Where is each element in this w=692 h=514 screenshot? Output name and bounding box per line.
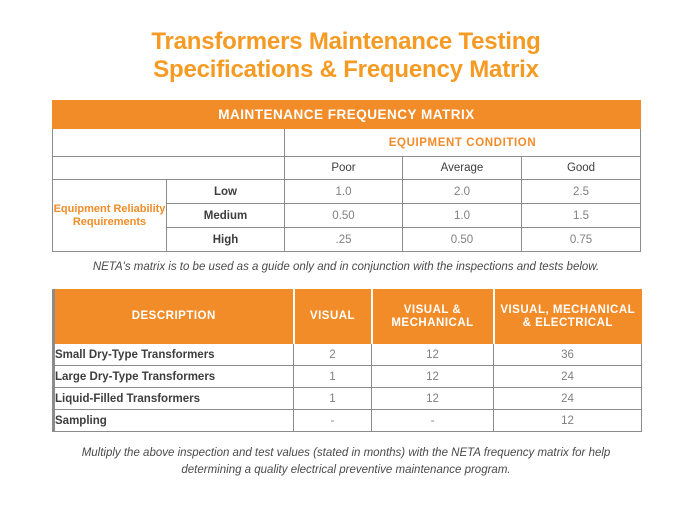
reliability-label-low: Low bbox=[167, 180, 285, 204]
table-row: Equipment Reliability Requirements Low 1… bbox=[53, 180, 641, 204]
matrix-group-header-row: EQUIPMENT CONDITION bbox=[53, 129, 641, 157]
matrix-value-medium-poor: 0.50 bbox=[285, 204, 403, 228]
matrix-banner-row: MAINTENANCE FREQUENCY MATRIX bbox=[53, 101, 641, 129]
matrix-banner: MAINTENANCE FREQUENCY MATRIX bbox=[53, 101, 641, 129]
row-visual-mechanical-electrical-sampling: 12 bbox=[494, 410, 642, 432]
infographic-page: Transformers Maintenance Testing Specifi… bbox=[0, 0, 692, 514]
footer-guidance-note: Multiply the above inspection and test v… bbox=[61, 445, 631, 479]
row-visual-mechanical-large-dry-type: 12 bbox=[372, 366, 494, 388]
matrix-guidance-note: NETA's matrix is to be used as a guide o… bbox=[52, 260, 640, 275]
header-visual-mechanical-electrical: VISUAL, MECHANICAL & ELECTRICAL bbox=[494, 290, 642, 344]
page-title: Transformers Maintenance Testing Specifi… bbox=[0, 0, 692, 84]
matrix-value-low-average: 2.0 bbox=[403, 180, 522, 204]
row-visual-mechanical-electrical-liquid-filled: 24 bbox=[494, 388, 642, 410]
matrix-value-high-good: 0.75 bbox=[522, 228, 641, 252]
row-description-small-dry-type: Small Dry-Type Transformers bbox=[54, 344, 294, 366]
row-visual-mechanical-sampling: - bbox=[372, 410, 494, 432]
equipment-reliability-requirements-label: Equipment Reliability Requirements bbox=[53, 180, 167, 252]
reliability-label-medium: Medium bbox=[167, 204, 285, 228]
row-visual-mechanical-electrical-large-dry-type: 24 bbox=[494, 366, 642, 388]
matrix-value-medium-average: 1.0 bbox=[403, 204, 522, 228]
matrix-value-low-good: 2.5 bbox=[522, 180, 641, 204]
row-description-large-dry-type: Large Dry-Type Transformers bbox=[54, 366, 294, 388]
row-description-sampling: Sampling bbox=[54, 410, 294, 432]
equipment-condition-header: EQUIPMENT CONDITION bbox=[285, 129, 641, 157]
row-visual-liquid-filled: 1 bbox=[294, 388, 372, 410]
matrix-value-high-poor: .25 bbox=[285, 228, 403, 252]
table-row: Sampling - - 12 bbox=[54, 410, 642, 432]
matrix-value-low-poor: 1.0 bbox=[285, 180, 403, 204]
header-description: DESCRIPTION bbox=[54, 290, 294, 344]
maintenance-frequency-matrix-table: MAINTENANCE FREQUENCY MATRIX EQUIPMENT C… bbox=[52, 100, 640, 252]
table-row: Small Dry-Type Transformers 2 12 36 bbox=[54, 344, 642, 366]
row-description-liquid-filled: Liquid-Filled Transformers bbox=[54, 388, 294, 410]
row-visual-mechanical-liquid-filled: 12 bbox=[372, 388, 494, 410]
matrix-condition-header-row: Poor Average Good bbox=[53, 157, 641, 180]
header-visual: VISUAL bbox=[294, 290, 372, 344]
inspection-header-row: DESCRIPTION VISUAL VISUAL & MECHANICAL V… bbox=[54, 290, 642, 344]
row-visual-sampling: - bbox=[294, 410, 372, 432]
row-visual-mechanical-small-dry-type: 12 bbox=[372, 344, 494, 366]
row-visual-small-dry-type: 2 bbox=[294, 344, 372, 366]
reliability-label-high: High bbox=[167, 228, 285, 252]
condition-header-average: Average bbox=[403, 157, 522, 180]
table-row: Liquid-Filled Transformers 1 12 24 bbox=[54, 388, 642, 410]
table-row: Large Dry-Type Transformers 1 12 24 bbox=[54, 366, 642, 388]
matrix-value-high-average: 0.50 bbox=[403, 228, 522, 252]
condition-header-poor: Poor bbox=[285, 157, 403, 180]
inspection-interval-table: DESCRIPTION VISUAL VISUAL & MECHANICAL V… bbox=[52, 289, 640, 432]
title-line-2: Specifications & Frequency Matrix bbox=[0, 56, 692, 84]
condition-header-good: Good bbox=[522, 157, 641, 180]
title-line-1: Transformers Maintenance Testing bbox=[0, 28, 692, 56]
row-visual-mechanical-electrical-small-dry-type: 36 bbox=[494, 344, 642, 366]
matrix-corner-empty-cell-2 bbox=[53, 157, 285, 180]
matrix-corner-empty-cell bbox=[53, 129, 285, 157]
row-visual-large-dry-type: 1 bbox=[294, 366, 372, 388]
header-visual-mechanical: VISUAL & MECHANICAL bbox=[372, 290, 494, 344]
matrix-value-medium-good: 1.5 bbox=[522, 204, 641, 228]
